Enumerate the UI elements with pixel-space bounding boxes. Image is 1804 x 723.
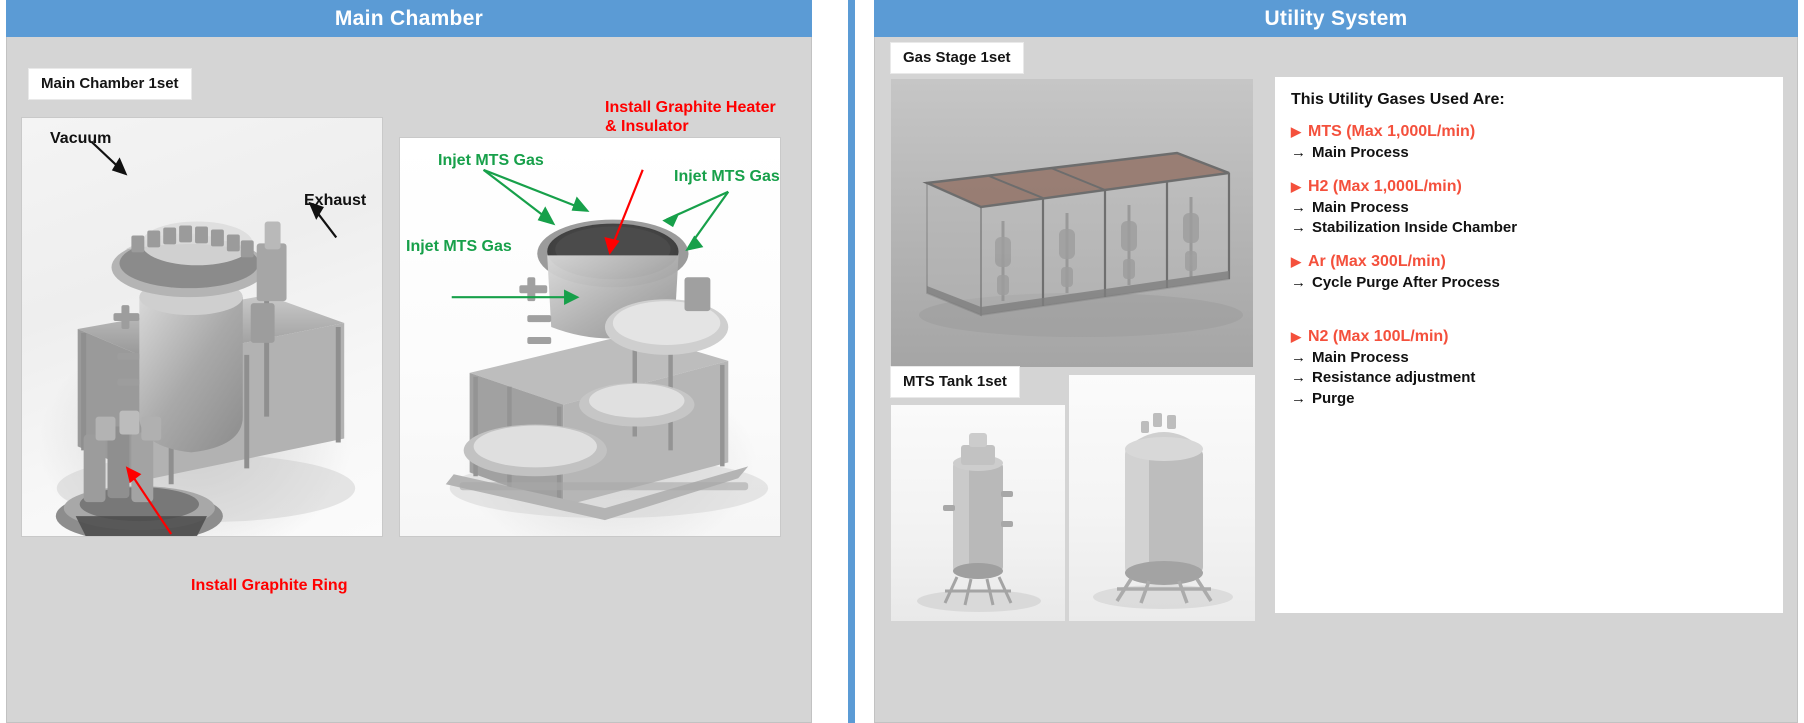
injet-mts-gas-annotation-3: Injet MTS Gas	[406, 238, 512, 257]
graphite-ring-annotation: Install Graphite Ring	[191, 577, 347, 596]
utility-system-panel: Utility System Gas Stage 1set	[874, 0, 1798, 723]
gas-head-h2: ▶ H2 (Max 1,000L/min)	[1291, 178, 1767, 196]
mts-tank-tag: MTS Tank 1set	[891, 367, 1019, 397]
gas-group-n2: ▶ N2 (Max 100L/min) → Main Process → Res…	[1291, 328, 1767, 410]
gas-group-mts: ▶ MTS (Max 1,000L/min) → Main Process	[1291, 123, 1767, 164]
gas-line-mts-0: → Main Process	[1291, 143, 1767, 164]
mts-tank-art-right	[1069, 375, 1255, 621]
utility-system-body: Gas Stage 1set	[874, 37, 1798, 723]
gas-line-label-mts-0: Main Process	[1312, 143, 1409, 164]
graphite-heater-label-line2: & Insulator	[605, 118, 776, 137]
gas-stage-art	[891, 79, 1253, 367]
bullet-triangle-icon: ▶	[1291, 330, 1301, 343]
arrow-right-icon: →	[1291, 368, 1306, 389]
bullet-triangle-icon: ▶	[1291, 125, 1301, 138]
gas-line-label-n2-2: Purge	[1312, 389, 1355, 410]
main-chamber-render[interactable]: Vacuum Exhaust	[21, 117, 383, 537]
vacuum-annotation: Vacuum	[50, 130, 111, 149]
injet-mts-gas-annotation-1: Injet MTS Gas	[438, 152, 544, 171]
chamber-render-art	[22, 118, 382, 536]
injet-mts-gas-annotation-2: Injet MTS Gas	[674, 168, 780, 187]
main-chamber-header: Main Chamber	[6, 0, 812, 37]
arrow-right-icon: →	[1291, 389, 1306, 410]
arrow-right-icon: →	[1291, 273, 1306, 294]
mts-tank-art-left	[891, 405, 1065, 621]
gas-head-n2: ▶ N2 (Max 100L/min)	[1291, 328, 1767, 346]
utility-system-header: Utility System	[874, 0, 1798, 37]
gas-group-h2: ▶ H2 (Max 1,000L/min) → Main Process → S…	[1291, 178, 1767, 239]
gas-line-h2-1: → Stabilization Inside Chamber	[1291, 218, 1767, 239]
gas-head-ar: ▶ Ar (Max 300L/min)	[1291, 253, 1767, 271]
graphite-heater-label-line1: Install Graphite Heater	[605, 99, 776, 118]
arrow-right-icon: →	[1291, 218, 1306, 239]
chamber-open-art	[400, 138, 780, 536]
chamber-open-render[interactable]: Injet MTS Gas Injet MTS Gas Injet MTS Ga…	[399, 137, 781, 537]
mts-tank-render-left[interactable]	[891, 405, 1065, 621]
gas-line-label-n2-1: Resistance adjustment	[1312, 368, 1475, 389]
utility-system-title: Utility System	[1264, 7, 1407, 31]
exhaust-annotation: Exhaust	[304, 192, 366, 211]
utility-gases-infobox: This Utility Gases Used Are: ▶ MTS (Max …	[1275, 77, 1783, 613]
gas-stage-tag: Gas Stage 1set	[891, 43, 1023, 73]
gas-line-ar-0: → Cycle Purge After Process	[1291, 273, 1767, 294]
main-chamber-body: Main Chamber 1set Install Graphite Heate…	[6, 37, 812, 723]
arrow-right-icon: →	[1291, 198, 1306, 219]
gas-line-n2-1: → Resistance adjustment	[1291, 368, 1767, 389]
utility-gases-title: This Utility Gases Used Are:	[1291, 91, 1767, 109]
gas-head-mts: ▶ MTS (Max 1,000L/min)	[1291, 123, 1767, 141]
gas-line-label-h2-0: Main Process	[1312, 198, 1409, 219]
bullet-triangle-icon: ▶	[1291, 180, 1301, 193]
mts-tank-render-right[interactable]	[1069, 375, 1255, 621]
arrow-right-icon: →	[1291, 348, 1306, 369]
main-chamber-title: Main Chamber	[335, 7, 483, 31]
gas-stage-render[interactable]	[891, 79, 1253, 367]
main-chamber-tag: Main Chamber 1set	[29, 69, 191, 99]
graphite-heater-label: Install Graphite Heater & Insulator	[605, 99, 776, 137]
arrow-right-icon: →	[1291, 143, 1306, 164]
gas-line-label-h2-1: Stabilization Inside Chamber	[1312, 218, 1517, 239]
gas-group-ar: ▶ Ar (Max 300L/min) → Cycle Purge After …	[1291, 253, 1767, 294]
panel-divider-bar	[848, 0, 855, 723]
panel-gap	[812, 0, 874, 723]
gas-line-label-n2-0: Main Process	[1312, 348, 1409, 369]
gas-line-label-ar-0: Cycle Purge After Process	[1312, 273, 1500, 294]
gas-head-label-ar: Ar (Max 300L/min)	[1308, 253, 1446, 271]
gas-head-label-mts: MTS (Max 1,000L/min)	[1308, 123, 1475, 141]
gas-line-h2-0: → Main Process	[1291, 198, 1767, 219]
gas-line-n2-0: → Main Process	[1291, 348, 1767, 369]
gas-line-n2-2: → Purge	[1291, 389, 1767, 410]
gas-head-label-n2: N2 (Max 100L/min)	[1308, 328, 1448, 346]
bullet-triangle-icon: ▶	[1291, 255, 1301, 268]
slide-canvas: Main Chamber Main Chamber 1set Install G…	[0, 0, 1804, 723]
main-chamber-panel: Main Chamber Main Chamber 1set Install G…	[6, 0, 812, 723]
gas-head-label-h2: H2 (Max 1,000L/min)	[1308, 178, 1462, 196]
